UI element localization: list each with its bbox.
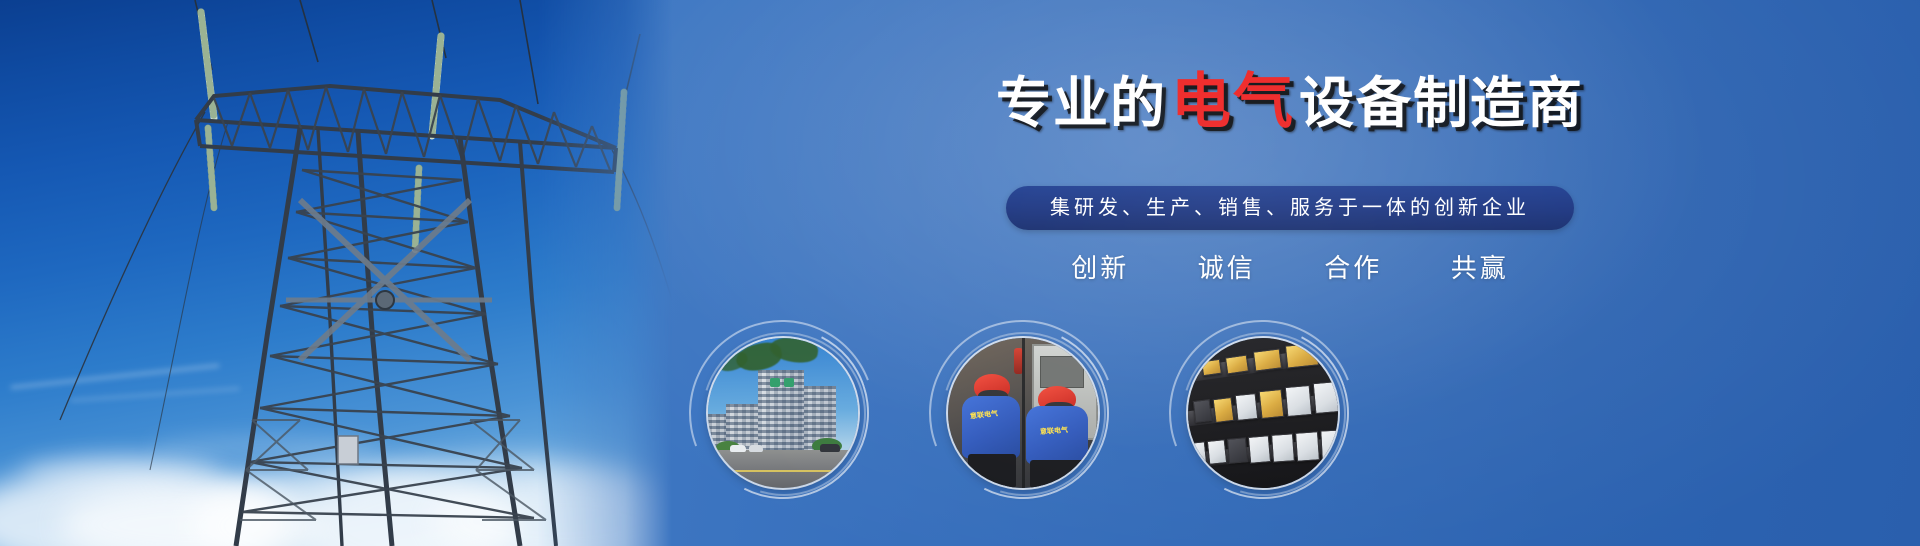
- uniform-logo-text: 意联电气: [1040, 425, 1069, 437]
- keyword-list: 创新 诚信 合作 共赢: [660, 248, 1920, 285]
- photo-circle-certificates[interactable]: [1163, 312, 1363, 512]
- headline-highlight: 电气: [1167, 68, 1299, 135]
- banner-content: 专业的电气设备制造商 集研发、生产、销售、服务于一体的创新企业 创新 诚信 合作…: [660, 0, 1920, 546]
- subtitle-pill: 集研发、生产、销售、服务于一体的创新企业: [1006, 186, 1574, 230]
- hero-banner: 专业的电气设备制造商 集研发、生产、销售、服务于一体的创新企业 创新 诚信 合作…: [0, 0, 1920, 546]
- roof-sign: [770, 378, 780, 387]
- headline-part-1: 专业的: [996, 72, 1167, 134]
- keyword-item-1: 创新: [1071, 248, 1129, 285]
- page-title: 专业的电气设备制造商: [660, 72, 1920, 132]
- certificate-wall-image: [1188, 338, 1338, 488]
- photo-circle-office-building[interactable]: [683, 312, 883, 512]
- keyword-item-2: 诚信: [1198, 248, 1256, 285]
- office-building-image: [708, 338, 858, 488]
- photo-circle-list: 意联电气 意联电气: [660, 312, 1920, 512]
- pylon-structure: [0, 0, 672, 546]
- workers-image: 意联电气 意联电气: [948, 338, 1098, 488]
- headline-part-2: 设备制造商: [1299, 72, 1584, 134]
- transmission-tower-photo: [0, 0, 672, 546]
- photo-circle-workers[interactable]: 意联电气 意联电气: [923, 312, 1123, 512]
- keyword-item-3: 合作: [1324, 248, 1382, 285]
- keyword-item-4: 共赢: [1451, 248, 1509, 285]
- roof-sign: [784, 378, 794, 387]
